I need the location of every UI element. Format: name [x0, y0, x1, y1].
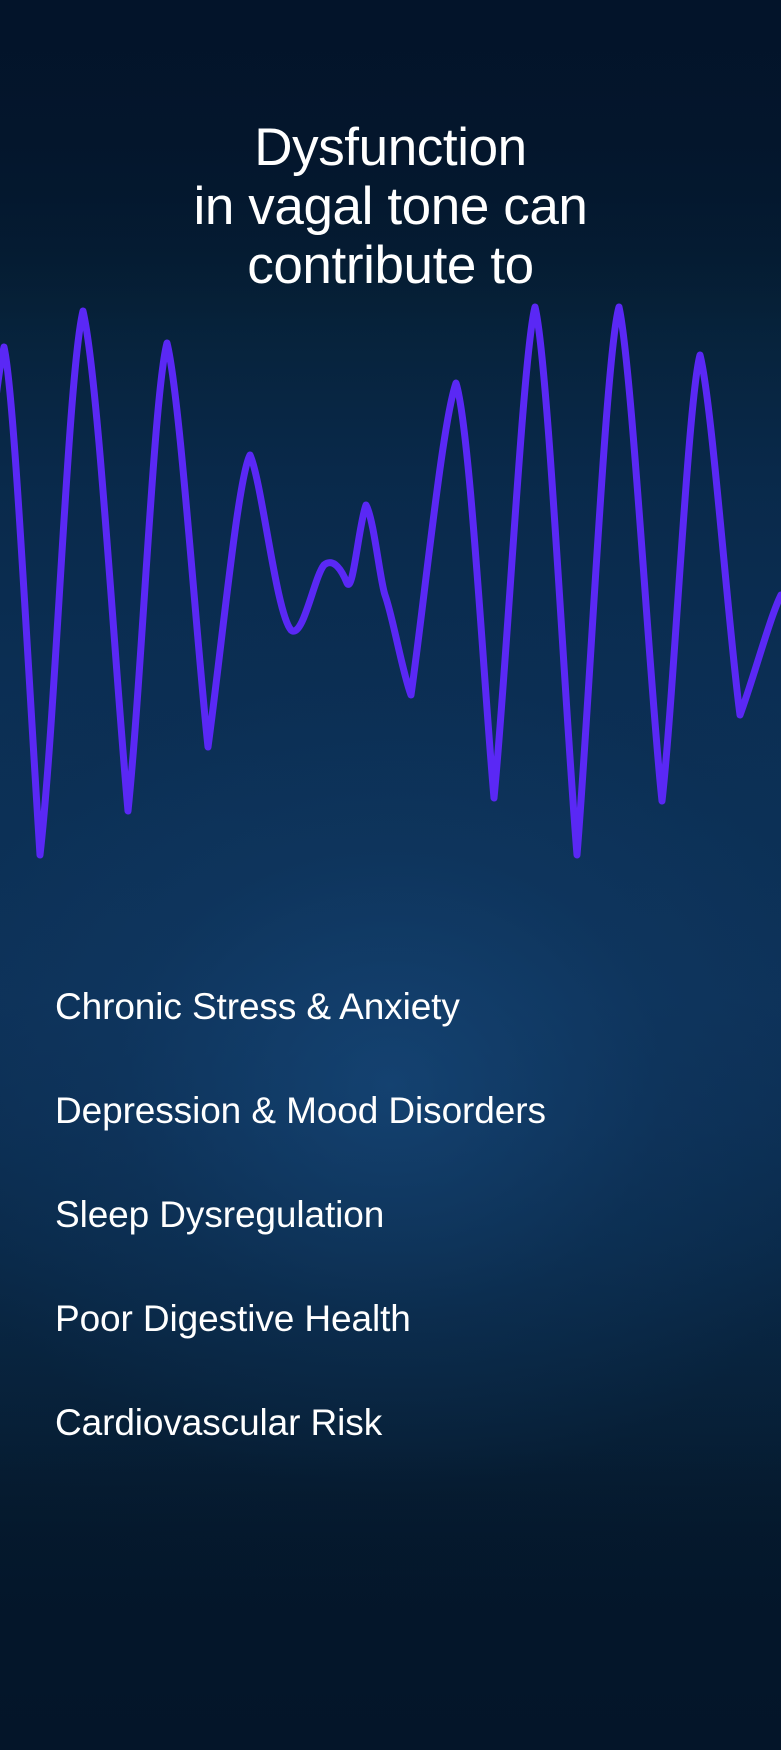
list-item-label: Cardiovascular Risk — [55, 1402, 382, 1444]
poster-canvas: Dysfunction in vagal tone can contribute… — [0, 0, 781, 1750]
list-item-label: Poor Digestive Health — [55, 1298, 411, 1340]
list-item: Sleep Dysregulation — [55, 1163, 755, 1267]
page-title: Dysfunction in vagal tone can contribute… — [0, 118, 781, 295]
list-item: Cardiovascular Risk — [55, 1371, 755, 1475]
list-item-label: Sleep Dysregulation — [55, 1194, 384, 1236]
page-title-line-1: Dysfunction — [0, 118, 781, 177]
consequences-list: Chronic Stress & Anxiety Depression & Mo… — [55, 955, 755, 1475]
page-title-line-3: contribute to — [0, 236, 781, 295]
list-item: Depression & Mood Disorders — [55, 1059, 755, 1163]
list-item: Chronic Stress & Anxiety — [55, 955, 755, 1059]
list-item-label: Depression & Mood Disorders — [55, 1090, 546, 1132]
list-item-label: Chronic Stress & Anxiety — [55, 986, 460, 1028]
page-title-line-2: in vagal tone can — [0, 177, 781, 236]
waveform-chart — [0, 295, 781, 875]
list-item: Poor Digestive Health — [55, 1267, 755, 1371]
waveform-path — [0, 307, 781, 855]
background-bottom-fade — [0, 1450, 781, 1750]
